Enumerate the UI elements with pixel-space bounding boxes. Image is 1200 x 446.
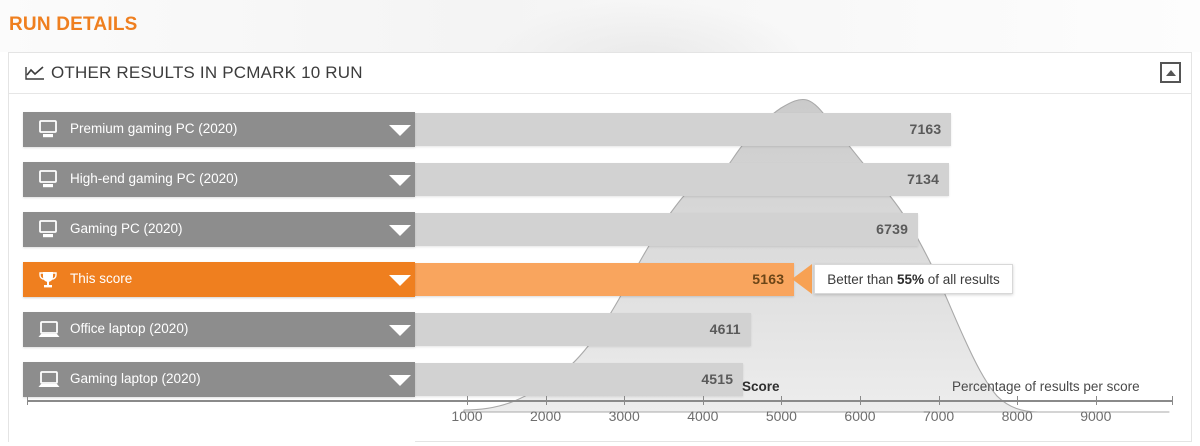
header-watermark	[480, 0, 810, 52]
chevron-down-icon[interactable]	[389, 375, 411, 386]
result-label-box[interactable]: Gaming PC (2020)	[23, 212, 415, 247]
x-axis-tick-label: 6000	[844, 408, 875, 424]
result-score-value: 5163	[752, 271, 784, 287]
x-axis-tick-label: 2000	[530, 408, 561, 424]
header-background	[0, 0, 1200, 52]
result-label-box[interactable]: Premium gaming PC (2020)	[23, 112, 415, 147]
result-bar: 5163	[415, 263, 794, 296]
collapse-up-icon[interactable]	[1160, 62, 1181, 83]
tooltip-prefix: Better than	[827, 272, 897, 287]
result-score-value: 4515	[701, 371, 733, 387]
result-score-value: 7163	[909, 121, 941, 137]
chevron-down-icon[interactable]	[389, 325, 411, 336]
result-label: This score	[70, 271, 132, 286]
line-chart-icon	[25, 66, 45, 81]
x-axis-tick	[1017, 396, 1018, 405]
panel-title: OTHER RESULTS IN PCMARK 10 RUN	[51, 63, 363, 83]
chevron-down-icon[interactable]	[389, 175, 411, 186]
x-axis-endcap	[27, 396, 28, 405]
x-axis-tick	[1096, 396, 1097, 405]
x-axis-tick	[860, 396, 861, 405]
x-axis-tick	[939, 396, 940, 405]
result-label: Premium gaming PC (2020)	[70, 121, 237, 136]
result-bar: 4515	[415, 363, 743, 396]
x-axis-tick-label: 8000	[1002, 408, 1033, 424]
result-label: Gaming PC (2020)	[70, 221, 183, 236]
x-axis-tick	[703, 396, 704, 405]
x-axis-tick	[781, 396, 782, 405]
desktop-icon	[37, 120, 59, 139]
laptop-icon	[37, 320, 59, 339]
tooltip-suffix: of all results	[924, 272, 1000, 287]
result-score-value: 6739	[876, 221, 908, 237]
result-label-box[interactable]: Gaming laptop (2020)	[23, 362, 415, 397]
chevron-down-icon[interactable]	[389, 125, 411, 136]
tooltip-arrow-icon	[792, 264, 812, 294]
x-axis: 100020003000400050006000700080009000	[9, 394, 1191, 442]
result-label-box[interactable]: High-end gaming PC (2020)	[23, 162, 415, 197]
x-axis-tick-label: 3000	[609, 408, 640, 424]
results-panel: OTHER RESULTS IN PCMARK 10 RUN 7163Premi…	[8, 52, 1192, 442]
chart-area: 7163Premium gaming PC (2020)7134High-end…	[9, 94, 1191, 442]
result-bar: 7134	[415, 163, 949, 196]
x-axis-tick	[624, 396, 625, 405]
result-label-box[interactable]: This score	[23, 262, 415, 297]
result-score-value: 4611	[710, 321, 741, 337]
result-bar: 7163	[415, 113, 951, 146]
chevron-down-icon[interactable]	[389, 225, 411, 236]
x-axis-line	[27, 400, 1173, 402]
run-details-page: RUN DETAILS OTHER RESULTS IN PCMARK 10 R…	[0, 0, 1200, 446]
x-axis-tick-label: 9000	[1080, 408, 1111, 424]
panel-header: OTHER RESULTS IN PCMARK 10 RUN	[9, 53, 1191, 94]
page-title: RUN DETAILS	[9, 14, 138, 36]
x-axis-tick-label: 1000	[451, 408, 482, 424]
chevron-down-icon[interactable]	[389, 275, 411, 286]
result-label: High-end gaming PC (2020)	[70, 171, 238, 186]
percentile-tooltip: Better than 55% of all results	[814, 264, 1013, 294]
x-axis-tick-label: 5000	[766, 408, 797, 424]
desktop-icon	[37, 220, 59, 239]
x-axis-tick-label: 7000	[923, 408, 954, 424]
result-label: Office laptop (2020)	[70, 321, 188, 336]
axis-title-score: Score	[742, 379, 780, 394]
result-bar: 6739	[415, 213, 918, 246]
x-axis-endcap	[1172, 396, 1173, 405]
x-axis-tick-label: 4000	[687, 408, 718, 424]
result-label: Gaming laptop (2020)	[70, 371, 201, 386]
x-axis-tick	[467, 396, 468, 405]
laptop-icon	[37, 370, 59, 389]
result-label-box[interactable]: Office laptop (2020)	[23, 312, 415, 347]
result-bar: 4611	[415, 313, 751, 346]
trophy-icon	[37, 270, 59, 289]
result-score-value: 7134	[907, 171, 939, 187]
desktop-icon	[37, 170, 59, 189]
tooltip-percent: 55%	[897, 272, 924, 287]
x-axis-tick	[546, 396, 547, 405]
axis-note-percentage: Percentage of results per score	[952, 379, 1140, 394]
